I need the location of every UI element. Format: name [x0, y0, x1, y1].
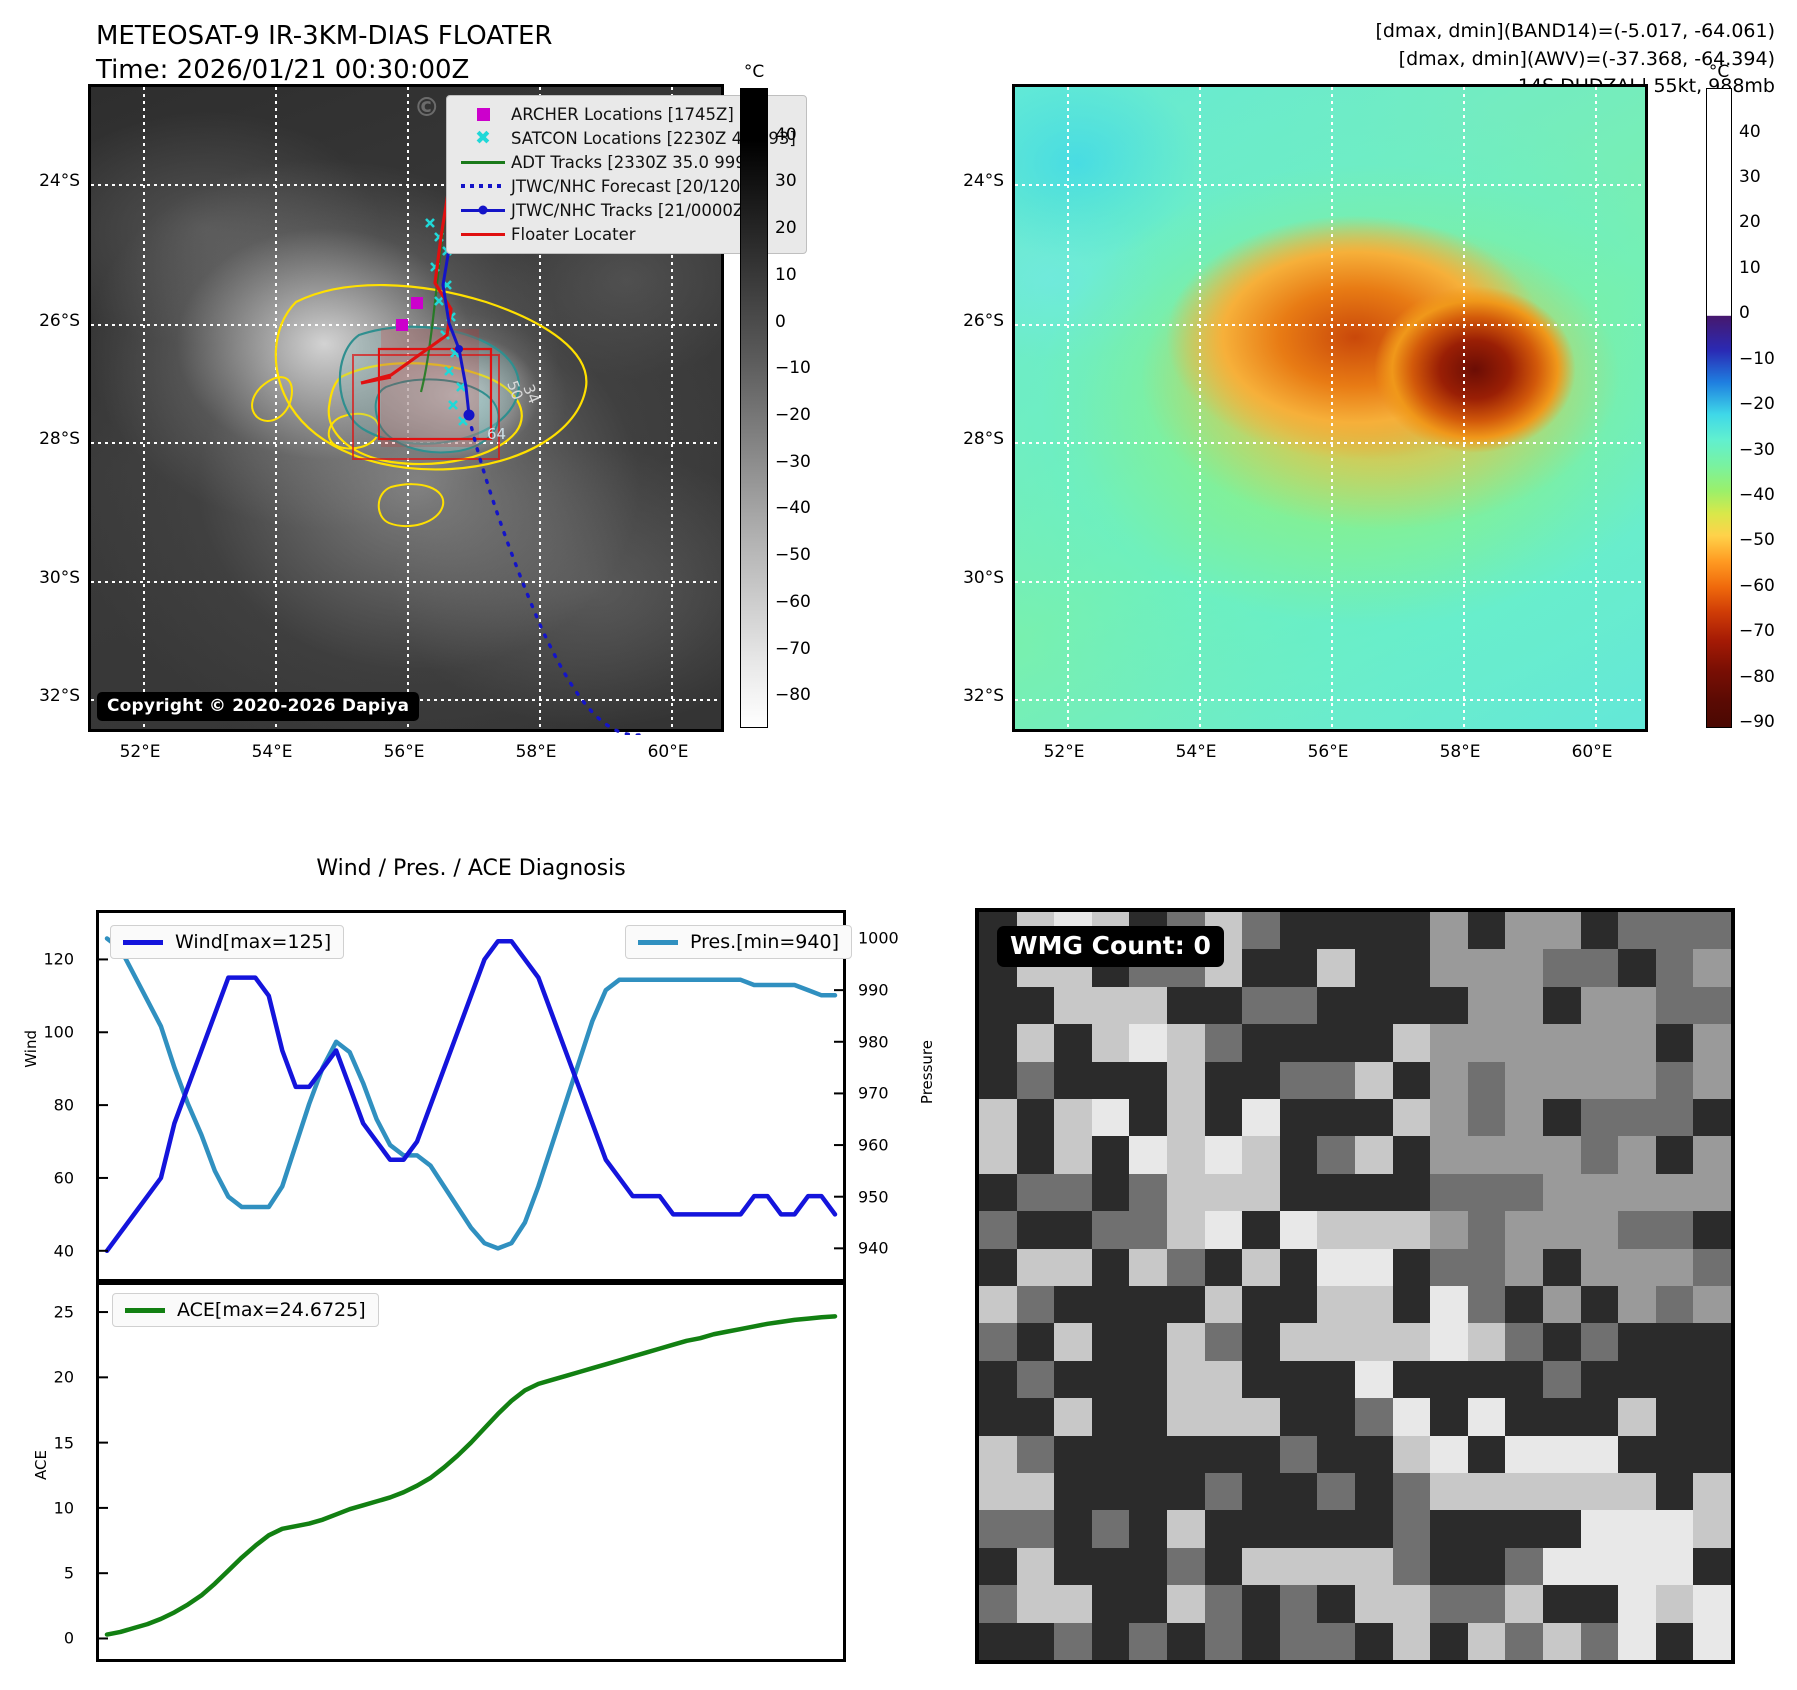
wmg-cell — [1693, 1398, 1732, 1436]
ytick: 40 — [8, 1241, 74, 1260]
wmg-cell — [1205, 1062, 1244, 1100]
cb-tick: −10 — [1739, 349, 1775, 369]
wmg-cell — [1205, 1286, 1244, 1324]
wmg-cell — [1280, 1211, 1319, 1249]
ytick: 15 — [16, 1433, 74, 1452]
cb-tick: 30 — [1739, 167, 1761, 187]
wmg-cell — [1618, 1136, 1657, 1174]
wmg-cell — [1430, 1361, 1469, 1399]
wmg-cell — [1430, 1323, 1469, 1361]
wmg-cell — [1280, 1398, 1319, 1436]
xtick: 52°E — [1044, 742, 1085, 762]
cb-tick: 0 — [1739, 303, 1750, 323]
wmg-cell — [1017, 1099, 1056, 1137]
ytick: 1000 — [858, 929, 918, 948]
wmg-cell — [1280, 1062, 1319, 1100]
legend-label: JTWC/NHC Tracks [21/0000Z] — [511, 201, 751, 220]
legend-label: Floater Locater — [511, 225, 636, 244]
wmg-cell — [1393, 1099, 1432, 1137]
legend-label: ADT Tracks [2330Z 35.0 999.8] — [511, 153, 768, 172]
wmg-cell — [1205, 1174, 1244, 1212]
diagnosis-chart-title: Wind / Pres. / ACE Diagnosis — [96, 856, 846, 881]
wmg-cell — [1129, 1473, 1168, 1511]
wmg-cell — [1693, 912, 1732, 950]
wmg-cell — [1205, 1136, 1244, 1174]
xtick: 54°E — [1176, 742, 1217, 762]
wmg-cell — [1280, 1585, 1319, 1623]
wmg-cell — [1054, 1249, 1093, 1287]
wmg-cell — [1656, 1510, 1695, 1548]
wmg-cell — [1280, 1436, 1319, 1474]
wmg-cell — [1092, 1623, 1131, 1661]
wmg-cell — [1317, 912, 1356, 950]
wmg-cell — [1393, 1436, 1432, 1474]
ytick: 24°S — [948, 171, 1004, 191]
awv-colorbar-title: °C — [1709, 62, 1729, 82]
ace-legend[interactable]: ACE[max=24.6725] — [112, 1293, 379, 1327]
wmg-cell — [1242, 1099, 1281, 1137]
wmg-cell — [1355, 1024, 1394, 1062]
ytick: 26°S — [24, 311, 80, 331]
wmg-cell — [1205, 1398, 1244, 1436]
wmg-cell — [1355, 1398, 1394, 1436]
wmg-cell — [1092, 1024, 1131, 1062]
wmg-cell — [1543, 1286, 1582, 1324]
ytick: 980 — [858, 1032, 918, 1051]
wmg-cell — [1430, 1211, 1469, 1249]
wmg-cell — [1355, 1361, 1394, 1399]
wmg-cell — [1468, 1024, 1507, 1062]
cb-tick: −40 — [1739, 485, 1775, 505]
blue-line-marker-icon — [455, 209, 511, 212]
wmg-cell — [1543, 949, 1582, 987]
wmg-cell — [1054, 1211, 1093, 1249]
wmg-cell — [1656, 1024, 1695, 1062]
wmg-cell — [1505, 987, 1544, 1025]
wmg-cell — [1167, 1136, 1206, 1174]
pressure-legend[interactable]: Pres.[min=940] — [625, 925, 852, 959]
wmg-cell — [1430, 1062, 1469, 1100]
wmg-cell — [1092, 1436, 1131, 1474]
wmg-cell — [1205, 1585, 1244, 1623]
wmg-cell — [1430, 912, 1469, 950]
wmg-cell — [1505, 1062, 1544, 1100]
wmg-cell — [1205, 1510, 1244, 1548]
wmg-cell — [1242, 1398, 1281, 1436]
wmg-cell — [1017, 1136, 1056, 1174]
wmg-cell — [1581, 1136, 1620, 1174]
wmg-cell — [1393, 1361, 1432, 1399]
red-line-icon — [455, 233, 511, 236]
wmg-cell — [1656, 1286, 1695, 1324]
wmg-cell — [1693, 1099, 1732, 1137]
cyan-x-icon: ✖ — [455, 129, 511, 148]
wmg-cell — [1581, 1174, 1620, 1212]
awv-map[interactable] — [1012, 84, 1648, 732]
wmg-cell — [1430, 1099, 1469, 1137]
wmg-cell — [1317, 1398, 1356, 1436]
wmg-cell — [1543, 1062, 1582, 1100]
ace-line-icon — [125, 1308, 165, 1313]
wmg-cell — [1393, 1473, 1432, 1511]
ytick: 950 — [858, 1187, 918, 1206]
wmg-cell — [1129, 1323, 1168, 1361]
wmg-cell — [1543, 1249, 1582, 1287]
wmg-cell — [1393, 1323, 1432, 1361]
cb-tick: −40 — [775, 498, 811, 518]
wmg-cell — [1656, 912, 1695, 950]
wmg-cell — [1129, 1361, 1168, 1399]
wmg-cell — [1092, 1473, 1131, 1511]
wmg-cell — [1167, 1024, 1206, 1062]
wmg-cell — [1280, 1249, 1319, 1287]
wmg-cell — [1505, 1323, 1544, 1361]
wmg-cell — [1393, 1548, 1432, 1586]
wmg-cell — [1280, 1548, 1319, 1586]
wmg-cell — [1656, 1548, 1695, 1586]
wmg-cell — [1393, 949, 1432, 987]
wmg-cell — [1543, 1136, 1582, 1174]
wmg-cell — [1129, 1585, 1168, 1623]
wmg-cell — [1317, 1473, 1356, 1511]
wmg-cell — [1468, 912, 1507, 950]
pressure-line-icon — [638, 940, 678, 945]
wmg-cell — [1017, 1323, 1056, 1361]
wmg-cell — [1618, 1062, 1657, 1100]
wmg-cell — [1543, 1623, 1582, 1661]
ytick: 100 — [8, 1023, 74, 1042]
wmg-cell — [1317, 1286, 1356, 1324]
wmg-cell — [1317, 1211, 1356, 1249]
wmg-cell — [1054, 987, 1093, 1025]
cb-tick: 0 — [775, 312, 786, 332]
wmg-cell — [1280, 949, 1319, 987]
ytick: 10 — [16, 1498, 74, 1517]
wmg-cell — [1129, 1211, 1168, 1249]
wmg-cell — [1242, 1623, 1281, 1661]
wmg-cell — [979, 1398, 1018, 1436]
wmg-cell — [1054, 1174, 1093, 1212]
wind-pressure-plot-area — [99, 913, 843, 1279]
wmg-cell — [1581, 1099, 1620, 1137]
ytick: 32°S — [948, 686, 1004, 706]
wmg-cell — [1393, 1623, 1432, 1661]
wmg-cell — [1242, 1473, 1281, 1511]
wmg-cell — [1205, 1099, 1244, 1137]
wmg-cell — [979, 1436, 1018, 1474]
wmg-cell — [979, 1510, 1018, 1548]
wmg-cell — [1693, 1361, 1732, 1399]
wmg-cell — [979, 1286, 1018, 1324]
wmg-cell — [1054, 1099, 1093, 1137]
wmg-cell — [1581, 1436, 1620, 1474]
wmg-cell — [1468, 1585, 1507, 1623]
wmg-cell — [1618, 912, 1657, 950]
ytick: 30°S — [948, 568, 1004, 588]
wmg-cell — [1393, 1286, 1432, 1324]
wmg-cell — [1355, 1062, 1394, 1100]
wmg-cell — [1543, 1436, 1582, 1474]
wmg-cell — [1656, 987, 1695, 1025]
wmg-cell — [1656, 1136, 1695, 1174]
wmg-cell — [1693, 1136, 1732, 1174]
wmg-cell — [1355, 1211, 1394, 1249]
wmg-cell — [1355, 1174, 1394, 1212]
wmg-cell — [1092, 1099, 1131, 1137]
wmg-cell — [1656, 1174, 1695, 1212]
wmg-cell — [1693, 1510, 1732, 1548]
wmg-cell — [1355, 1323, 1394, 1361]
wmg-cell — [1543, 1174, 1582, 1212]
wmg-cell — [1656, 949, 1695, 987]
wmg-cell — [1092, 987, 1131, 1025]
wmg-cell — [1017, 1174, 1056, 1212]
wmg-cell — [1017, 1286, 1056, 1324]
wmg-cell — [1581, 1024, 1620, 1062]
ytick: 5 — [16, 1564, 74, 1583]
wmg-cell — [1618, 1323, 1657, 1361]
wmg-panel[interactable]: WMG Count: 0 — [975, 908, 1735, 1664]
wmg-cell — [1167, 1548, 1206, 1586]
wmg-cell — [1242, 1548, 1281, 1586]
wmg-cell — [1092, 1062, 1131, 1100]
wmg-cell — [1205, 1361, 1244, 1399]
wmg-cell — [1505, 1136, 1544, 1174]
wmg-cell — [1693, 1623, 1732, 1661]
wmg-cell — [1280, 1623, 1319, 1661]
wmg-cell — [1054, 1473, 1093, 1511]
ace-chart[interactable] — [96, 1282, 846, 1662]
wmg-cell — [1393, 1136, 1432, 1174]
wmg-cell — [1167, 1062, 1206, 1100]
wmg-cell — [979, 1024, 1018, 1062]
ytick: 970 — [858, 1084, 918, 1103]
wmg-cell — [1092, 1361, 1131, 1399]
wmg-cell — [1393, 1249, 1432, 1287]
wmg-cell — [1129, 1099, 1168, 1137]
wmg-pixel-grid — [979, 912, 1731, 1660]
wmg-cell — [1505, 1473, 1544, 1511]
wmg-cell — [1581, 1361, 1620, 1399]
wmg-cell — [1317, 1623, 1356, 1661]
wmg-cell — [1355, 1436, 1394, 1474]
cb-tick: −30 — [775, 452, 811, 472]
wmg-cell — [1618, 1436, 1657, 1474]
ace-legend-label: ACE[max=24.6725] — [177, 1299, 366, 1321]
wmg-cell — [1205, 1024, 1244, 1062]
wmg-cell — [1092, 1211, 1131, 1249]
wmg-cell — [1167, 1174, 1206, 1212]
wmg-cell — [1242, 1249, 1281, 1287]
wmg-cell — [1129, 1249, 1168, 1287]
wmg-cell — [1505, 1510, 1544, 1548]
wmg-cell — [1468, 1436, 1507, 1474]
wmg-cell — [1693, 1548, 1732, 1586]
wmg-cell — [1618, 1249, 1657, 1287]
ytick: 26°S — [948, 311, 1004, 331]
wmg-cell — [1618, 1174, 1657, 1212]
ir-colorbar-title: °C — [744, 62, 764, 82]
ir-floater-map[interactable]: 34 50 64 © EUMETSAT 2026 Copyright © 202… — [88, 84, 724, 732]
ytick: 30°S — [24, 568, 80, 588]
wmg-cell — [1618, 1548, 1657, 1586]
wmg-cell — [1017, 1436, 1056, 1474]
wmg-cell — [1430, 1249, 1469, 1287]
wmg-cell — [1167, 1249, 1206, 1287]
wmg-cell — [1280, 912, 1319, 950]
wmg-cell — [1054, 1323, 1093, 1361]
cb-tick: −70 — [1739, 621, 1775, 641]
wmg-cell — [1017, 1398, 1056, 1436]
wmg-cell — [1242, 1585, 1281, 1623]
wmg-cell — [1581, 1249, 1620, 1287]
wmg-cell — [1092, 1174, 1131, 1212]
wind-legend-label: Wind[max=125] — [175, 931, 331, 953]
wmg-cell — [1242, 1024, 1281, 1062]
wmg-cell — [1129, 1510, 1168, 1548]
wmg-cell — [1430, 1286, 1469, 1324]
wmg-cell — [1581, 1323, 1620, 1361]
pressure-legend-label: Pres.[min=940] — [690, 931, 839, 953]
wmg-cell — [1430, 1585, 1469, 1623]
wmg-cell — [1393, 1024, 1432, 1062]
cb-tick: −70 — [775, 639, 811, 659]
wmg-cell — [1581, 912, 1620, 950]
wmg-cell — [1317, 1323, 1356, 1361]
wmg-count-badge: WMG Count: 0 — [997, 926, 1224, 967]
wmg-cell — [1355, 987, 1394, 1025]
wmg-cell — [979, 987, 1018, 1025]
wmg-cell — [1017, 1585, 1056, 1623]
ytick: 80 — [8, 1096, 74, 1115]
cb-tick: −50 — [1739, 530, 1775, 550]
wmg-cell — [979, 1174, 1018, 1212]
wmg-cell — [1468, 1099, 1507, 1137]
wmg-cell — [1280, 1510, 1319, 1548]
wmg-cell — [1167, 987, 1206, 1025]
cb-tick: 40 — [775, 125, 797, 145]
wmg-cell — [1054, 1136, 1093, 1174]
wmg-cell — [1317, 1136, 1356, 1174]
wmg-cell — [1167, 1398, 1206, 1436]
wmg-cell — [1205, 1323, 1244, 1361]
wmg-cell — [1468, 1510, 1507, 1548]
wmg-cell — [1317, 1249, 1356, 1287]
wmg-cell — [1430, 1510, 1469, 1548]
wmg-cell — [1505, 1361, 1544, 1399]
wmg-cell — [1693, 1286, 1732, 1324]
xtick: 60°E — [648, 742, 689, 762]
wmg-cell — [1430, 1623, 1469, 1661]
wmg-cell — [1355, 1510, 1394, 1548]
wmg-cell — [1505, 1398, 1544, 1436]
wmg-cell — [1656, 1323, 1695, 1361]
wmg-cell — [1393, 1398, 1432, 1436]
cb-tick: −80 — [1739, 667, 1775, 687]
wmg-cell — [1167, 1510, 1206, 1548]
wmg-cell — [1355, 949, 1394, 987]
wmg-cell — [1393, 1211, 1432, 1249]
wmg-cell — [1693, 1062, 1732, 1100]
cb-tick: −10 — [775, 358, 811, 378]
wmg-cell — [1505, 1623, 1544, 1661]
wmg-cell — [1205, 1436, 1244, 1474]
wmg-cell — [1092, 1323, 1131, 1361]
wmg-cell — [1129, 1548, 1168, 1586]
wmg-cell — [1205, 1473, 1244, 1511]
cb-tick: −60 — [775, 592, 811, 612]
wmg-cell — [1656, 1623, 1695, 1661]
magenta-square-icon — [455, 108, 511, 121]
wmg-cell — [1280, 1024, 1319, 1062]
wmg-cell — [1693, 987, 1732, 1025]
ace-plot-area — [99, 1285, 843, 1659]
wmg-cell — [1393, 1174, 1432, 1212]
wmg-cell — [1242, 949, 1281, 987]
wmg-cell — [1505, 1286, 1544, 1324]
wmg-cell — [1205, 987, 1244, 1025]
wmg-cell — [1242, 1174, 1281, 1212]
wmg-cell — [1017, 1548, 1056, 1586]
wmg-cell — [1581, 1585, 1620, 1623]
wmg-cell — [1017, 1510, 1056, 1548]
wmg-cell — [1205, 1249, 1244, 1287]
wmg-cell — [1317, 1510, 1356, 1548]
wmg-cell — [1656, 1211, 1695, 1249]
wmg-cell — [1242, 1211, 1281, 1249]
ir-colorbar: °C 40 30 20 10 0 −10 −20 −30 −40 −50 −60… — [740, 88, 768, 728]
wmg-cell — [1205, 1623, 1244, 1661]
wmg-cell — [1430, 1398, 1469, 1436]
cb-tick: 10 — [1739, 258, 1761, 278]
wmg-cell — [1393, 1585, 1432, 1623]
cb-tick: 40 — [1739, 122, 1761, 142]
xtick: 56°E — [1308, 742, 1349, 762]
wmg-cell — [1017, 1062, 1056, 1100]
wmg-cell — [1129, 1024, 1168, 1062]
copyright-notice: Copyright © 2020-2026 Dapiya — [97, 692, 419, 721]
wmg-cell — [1167, 1585, 1206, 1623]
wmg-cell — [1129, 1062, 1168, 1100]
wmg-cell — [1468, 1286, 1507, 1324]
wmg-cell — [1581, 1473, 1620, 1511]
wmg-cell — [1317, 1436, 1356, 1474]
cb-tick: −60 — [1739, 576, 1775, 596]
wmg-cell — [1017, 1361, 1056, 1399]
ytick: 960 — [858, 1136, 918, 1155]
wmg-cell — [1242, 1136, 1281, 1174]
wmg-cell — [979, 1623, 1018, 1661]
wind-legend[interactable]: Wind[max=125] — [110, 925, 344, 959]
wind-pressure-chart[interactable] — [96, 910, 846, 1282]
wmg-cell — [1054, 1062, 1093, 1100]
wmg-cell — [1242, 987, 1281, 1025]
wmg-cell — [1618, 1510, 1657, 1548]
legend-label: ARCHER Locations [1745Z] — [511, 105, 734, 124]
wmg-cell — [1017, 1473, 1056, 1511]
wmg-cell — [1543, 1099, 1582, 1137]
wmg-cell — [1505, 1585, 1544, 1623]
wmg-cell — [1543, 1323, 1582, 1361]
wmg-cell — [1618, 1398, 1657, 1436]
cb-tick: −50 — [775, 545, 811, 565]
wmg-cell — [1543, 1510, 1582, 1548]
wmg-cell — [1167, 1323, 1206, 1361]
wmg-cell — [1017, 987, 1056, 1025]
wmg-cell — [1656, 1436, 1695, 1474]
wmg-cell — [1618, 1286, 1657, 1324]
wmg-cell — [1355, 1548, 1394, 1586]
